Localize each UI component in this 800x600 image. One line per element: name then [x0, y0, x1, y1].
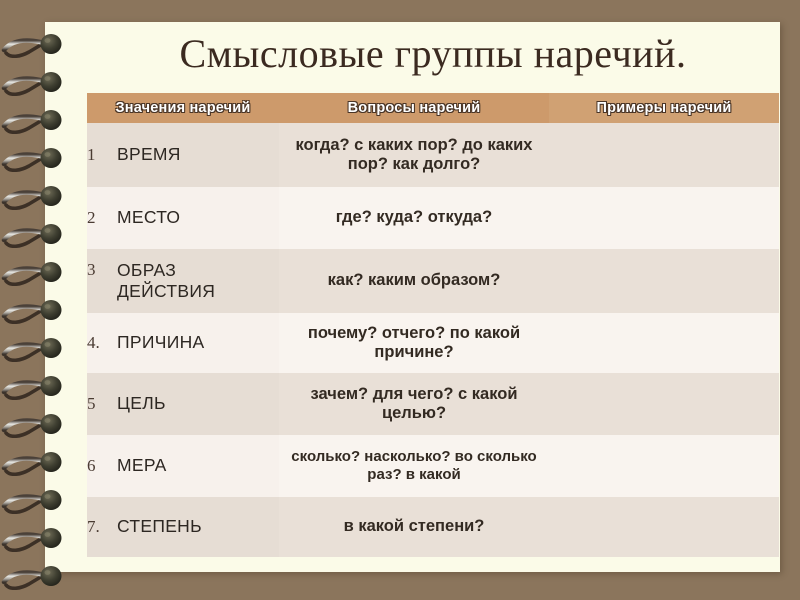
column-header-questions: Вопросы наречий — [279, 93, 549, 123]
table-row: 4.ПРИЧИНА почему? отчего? по какой причи… — [87, 313, 779, 373]
examples-cell — [549, 313, 779, 373]
meaning-cell: 4.ПРИЧИНА — [87, 313, 279, 373]
questions-cell: почему? отчего? по какой причине? — [279, 313, 549, 373]
row-number: 2 — [87, 208, 117, 227]
meaning-cell: 3ОБРАЗ ДЕЙСТВИЯ — [87, 249, 279, 313]
examples-cell — [549, 249, 779, 313]
row-number: 7. — [87, 517, 117, 536]
meaning-label: ОБРАЗ ДЕЙСТВИЯ — [117, 260, 237, 301]
meaning-cell: 2МЕСТО — [87, 187, 279, 249]
page-title: Смысловые группы наречий. — [87, 34, 779, 74]
row-number: 4. — [87, 333, 117, 352]
slide-canvas: Смысловые группы наречий. Значения нареч… — [0, 0, 800, 600]
meaning-cell: 5ЦЕЛЬ — [87, 373, 279, 435]
meaning-label: ВРЕМЯ — [117, 145, 181, 165]
meaning-label: ЦЕЛЬ — [117, 394, 166, 414]
examples-cell — [549, 435, 779, 497]
column-header-examples: Примеры наречий — [549, 93, 779, 123]
meaning-cell: 6МЕРА — [87, 435, 279, 497]
row-number: 5 — [87, 394, 117, 413]
column-header-meanings: Значения наречий — [87, 93, 279, 123]
meaning-label: МЕРА — [117, 456, 167, 476]
table-row: 3ОБРАЗ ДЕЙСТВИЯ как? каким образом? — [87, 249, 779, 313]
table-row: 5ЦЕЛЬ зачем? для чего? с какой целью? — [87, 373, 779, 435]
questions-cell: сколько? насколько? во сколько раз? в ка… — [279, 435, 549, 497]
examples-cell — [549, 373, 779, 435]
meaning-label: МЕСТО — [117, 208, 180, 228]
questions-cell: зачем? для чего? с какой целью? — [279, 373, 549, 435]
questions-cell: как? каким образом? — [279, 249, 549, 313]
adverb-groups-table: Значения наречий Вопросы наречий Примеры… — [87, 93, 779, 557]
examples-cell — [549, 497, 779, 557]
meaning-cell: 1ВРЕМЯ — [87, 123, 279, 187]
table-row: 7.СТЕПЕНЬ в какой степени? — [87, 497, 779, 557]
meaning-cell: 7.СТЕПЕНЬ — [87, 497, 279, 557]
questions-cell: в какой степени? — [279, 497, 549, 557]
questions-cell: когда? с каких пор? до каких пор? как до… — [279, 123, 549, 187]
examples-cell — [549, 187, 779, 249]
table-row: 6МЕРА сколько? насколько? во сколько раз… — [87, 435, 779, 497]
row-number: 1 — [87, 145, 117, 164]
questions-cell: где? куда? откуда? — [279, 187, 549, 249]
row-number: 6 — [87, 456, 117, 475]
table-header-row: Значения наречий Вопросы наречий Примеры… — [87, 93, 779, 123]
examples-cell — [549, 123, 779, 187]
table-row: 2МЕСТО где? куда? откуда? — [87, 187, 779, 249]
meaning-label: ПРИЧИНА — [117, 333, 204, 353]
meaning-label: СТЕПЕНЬ — [117, 517, 202, 537]
table-row: 1ВРЕМЯ когда? с каких пор? до каких пор?… — [87, 123, 779, 187]
row-number: 3 — [87, 260, 117, 279]
